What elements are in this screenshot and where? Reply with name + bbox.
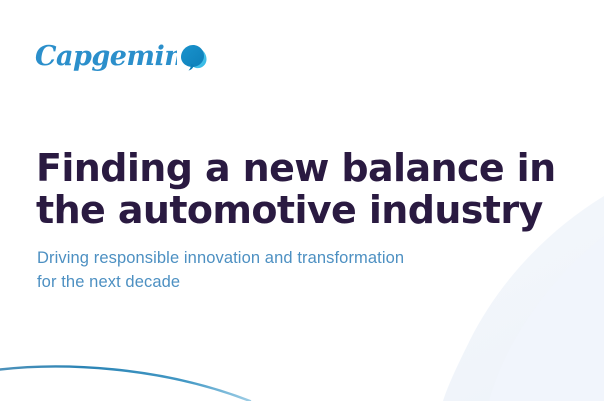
capgemini-wordmark-text: Capgemini — [35, 41, 177, 72]
capgemini-spade-icon — [178, 42, 208, 72]
bottom-blue-arc — [0, 341, 604, 401]
page-subtitle: Driving responsible innovation and trans… — [37, 246, 507, 294]
capgemini-wordmark: Capgemini — [35, 37, 177, 77]
report-cover-page: Capgemini Finding a new balance in the — [0, 0, 604, 401]
capgemini-logo: Capgemini — [35, 34, 208, 80]
page-title: Finding a new balance in the automotive … — [36, 147, 556, 231]
